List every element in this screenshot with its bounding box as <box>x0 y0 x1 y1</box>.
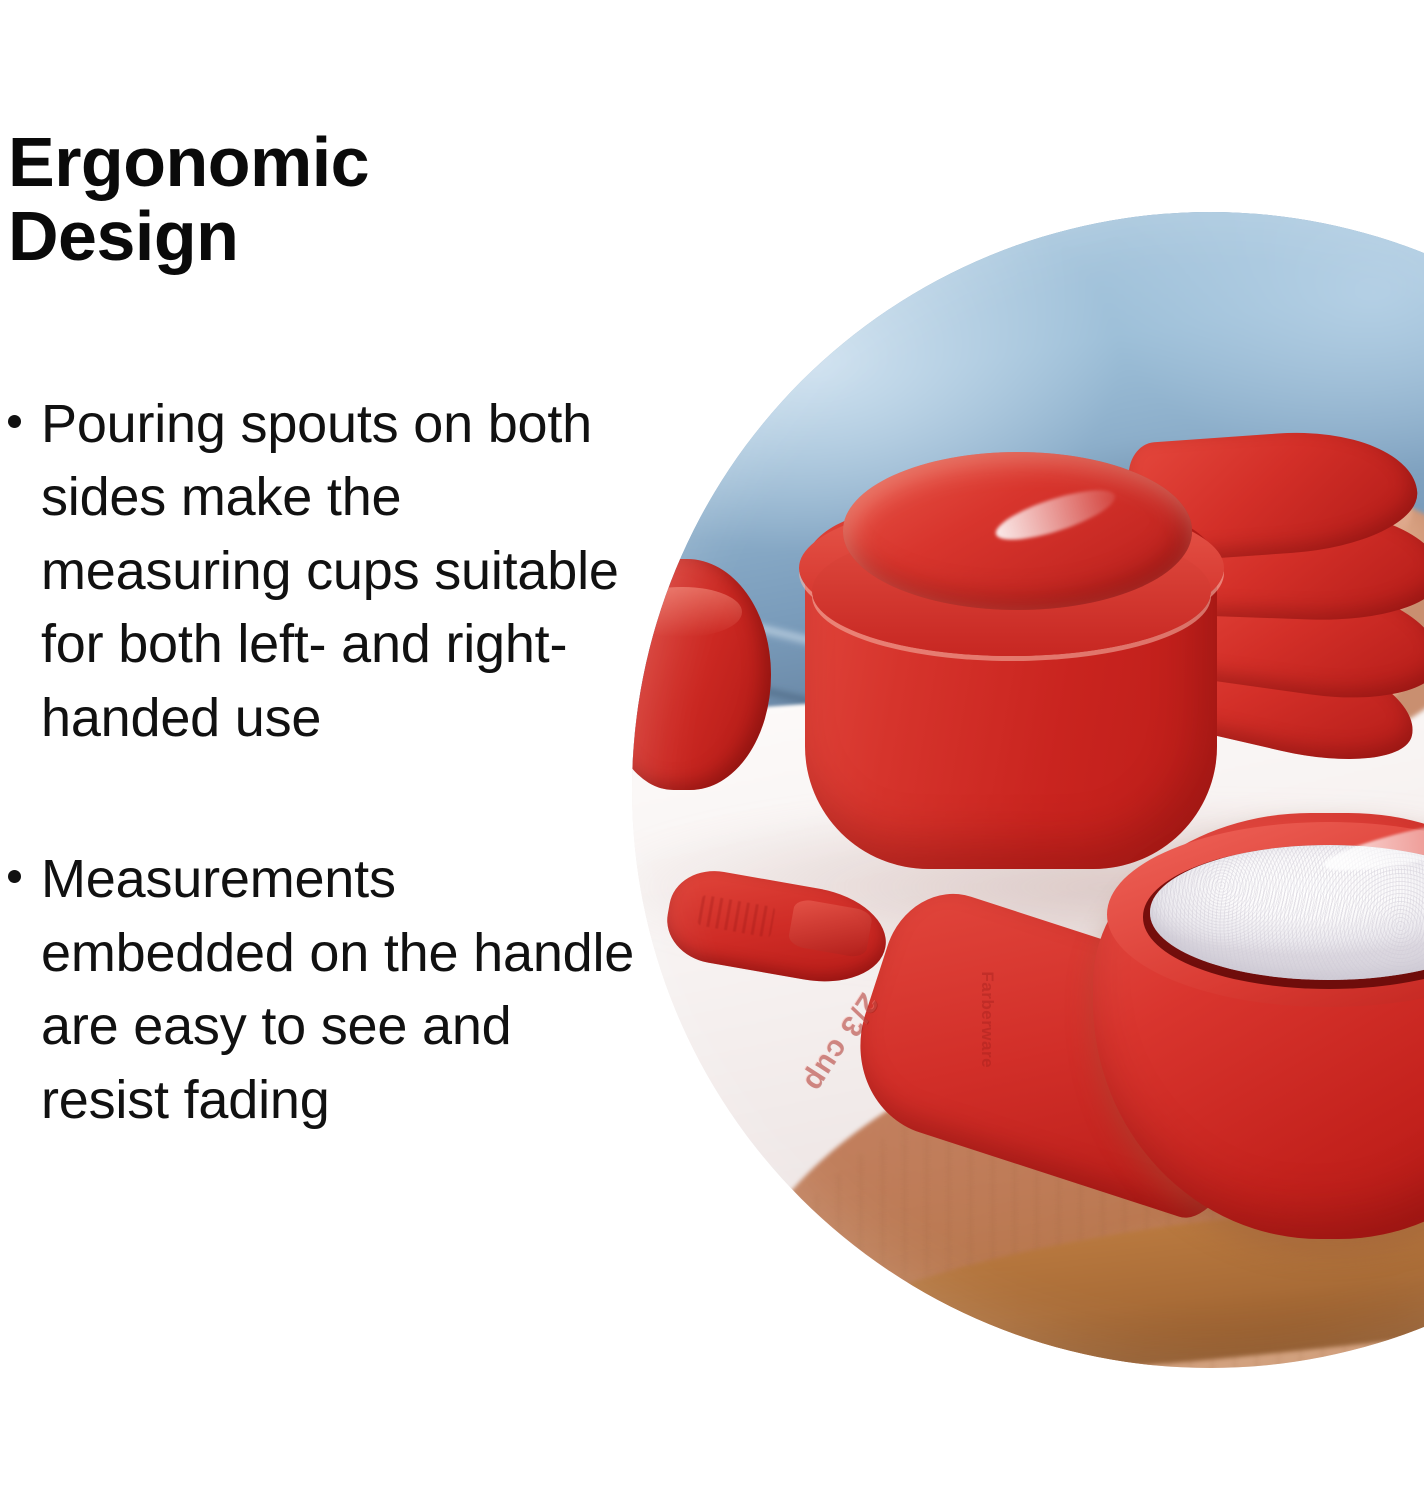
spoon-embossed-marking <box>697 895 776 939</box>
feature-bullet-list: Pouring spouts on both sides make the me… <box>0 388 640 1137</box>
bullet-text: Pouring spouts on both sides make the me… <box>41 388 640 755</box>
list-item: Pouring spouts on both sides make the me… <box>0 388 640 755</box>
bullet-dot-icon <box>8 415 21 428</box>
product-photo-circle: 2/3 cup Farberware <box>632 212 1424 1368</box>
list-item: Measurements embedded on the handle are … <box>0 843 640 1137</box>
bullet-dot-icon <box>8 870 21 883</box>
cup-brand-mark: Farberware <box>978 971 998 1068</box>
product-photo: 2/3 cup Farberware <box>632 212 1424 1368</box>
bullet-text: Measurements embedded on the handle are … <box>41 843 640 1137</box>
page-title: Ergonomic Design <box>8 125 568 273</box>
foreground-measuring-cup: 2/3 cup Farberware <box>863 813 1424 1275</box>
text-column: Ergonomic Design Pouring spouts on both … <box>0 0 660 1500</box>
